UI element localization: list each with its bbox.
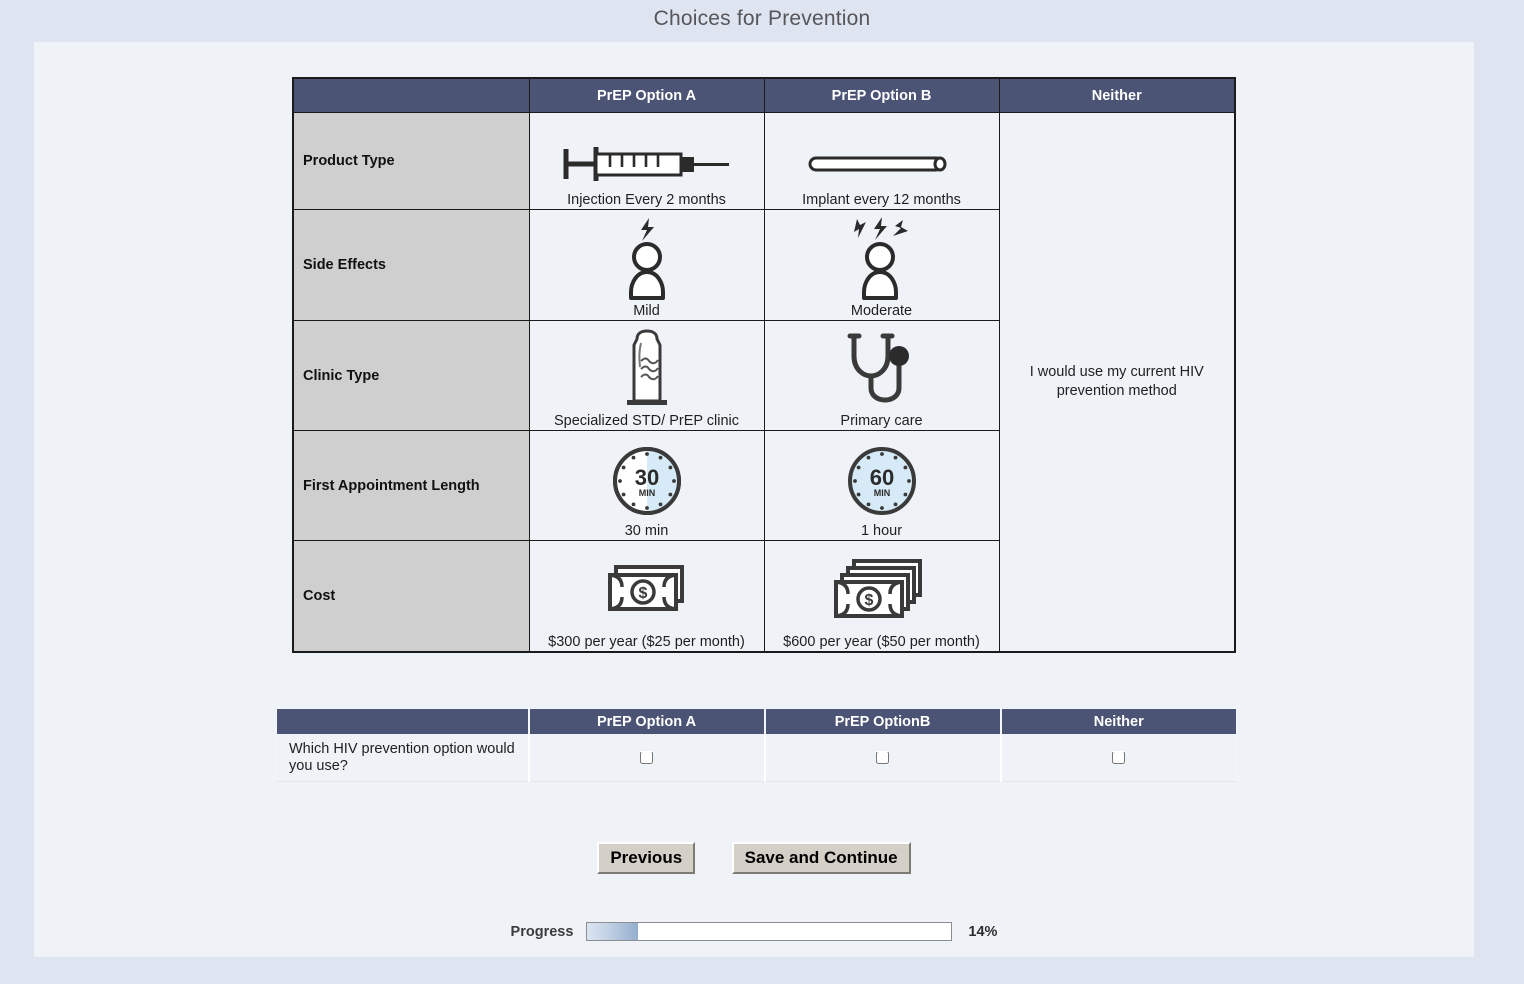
svg-text:$: $	[864, 592, 873, 609]
syringe-icon	[530, 136, 764, 192]
choice-cell-option-b[interactable]	[765, 734, 1001, 782]
attr-caption-side-effects-option-a: Mild	[530, 303, 764, 320]
attr-label-cost: Cost	[293, 541, 529, 653]
clock-number-b: 60	[869, 465, 893, 490]
person-three-bolts-icon	[765, 215, 999, 303]
attr-cell-clinic-type-option-a: Specialized STD/ PrEP clinic	[529, 321, 764, 431]
choice-question-cell: Which HIV prevention option would you us…	[277, 734, 529, 782]
choice-cell-neither[interactable]	[1001, 734, 1237, 782]
progress-percent-text: 14%	[968, 924, 997, 940]
attr-caption-appointment-option-a: 30 min	[530, 523, 764, 540]
attr-cell-product-type-option-a: Injection Every 2 months	[529, 113, 764, 210]
attr-caption-product-type-option-b: Implant every 12 months	[765, 192, 999, 209]
attr-cell-appointment-option-a: 30 MIN 30 min	[529, 431, 764, 541]
implant-rod-icon	[765, 136, 999, 192]
choice-header-blank	[277, 709, 529, 735]
progress-row: Progress 14%	[34, 922, 1474, 941]
attr-header-blank	[293, 78, 529, 113]
choice-question-row: Which HIV prevention option would you us…	[277, 734, 1237, 782]
svg-text:$: $	[638, 585, 647, 602]
save-and-continue-button[interactable]: Save and Continue	[732, 842, 911, 874]
attribute-table-header-row: PrEP Option A PrEP Option B Neither	[293, 78, 1235, 113]
attr-label-side-effects: Side Effects	[293, 210, 529, 321]
choice-question-text: Which HIV prevention option would you us…	[278, 741, 527, 775]
attr-caption-product-type-option-a: Injection Every 2 months	[530, 192, 764, 209]
attribute-comparison-table: PrEP Option A PrEP Option B Neither Prod…	[292, 77, 1236, 653]
progress-bar-fill	[587, 923, 638, 940]
attr-header-option-a: PrEP Option A	[529, 78, 764, 113]
attr-cell-cost-option-b: $ $600 per year ($50 per month)	[764, 541, 999, 653]
attr-caption-appointment-option-b: 1 hour	[765, 523, 999, 540]
attr-caption-clinic-type-option-a: Specialized STD/ PrEP clinic	[530, 413, 764, 430]
choice-table-header-row: PrEP Option A PrEP OptionB Neither	[277, 709, 1237, 735]
attr-cell-appointment-option-b: 60 MIN 1 hour	[764, 431, 999, 541]
clock-unit-b: MIN	[873, 488, 890, 498]
attr-cell-side-effects-option-b: Moderate	[764, 210, 999, 321]
attr-label-clinic-type: Clinic Type	[293, 321, 529, 431]
clock-30-min-icon: 30 MIN	[530, 439, 764, 523]
clock-unit-a: MIN	[638, 488, 655, 498]
single-banknote-icon: $	[530, 546, 764, 634]
attr-caption-cost-option-a: $300 per year ($25 per month)	[530, 634, 764, 651]
attr-cell-clinic-type-option-b: Primary care	[764, 321, 999, 431]
survey-panel: PrEP Option A PrEP Option B Neither Prod…	[34, 42, 1474, 957]
table-row: Product Type	[293, 113, 1235, 210]
clock-number-a: 30	[634, 465, 658, 490]
attr-label-product-type: Product Type	[293, 113, 529, 210]
attr-header-neither: Neither	[999, 78, 1235, 113]
stacked-banknotes-icon: $	[765, 546, 999, 634]
choice-header-option-a: PrEP Option A	[529, 709, 765, 735]
choice-answer-table: PrEP Option A PrEP OptionB Neither Which…	[276, 708, 1237, 782]
previous-button[interactable]: Previous	[597, 842, 695, 874]
page-title: Choices for Prevention	[0, 0, 1524, 38]
checkbox-option-a[interactable]	[640, 751, 653, 764]
attr-cell-product-type-option-b: Implant every 12 months	[764, 113, 999, 210]
stethoscope-icon	[765, 327, 999, 413]
checkbox-option-b[interactable]	[876, 751, 889, 764]
choice-header-neither: Neither	[1001, 709, 1237, 735]
attr-caption-cost-option-b: $600 per year ($50 per month)	[765, 634, 999, 651]
person-one-bolt-icon	[530, 215, 764, 303]
attr-cell-cost-option-a: $ $300 per year ($25 per month)	[529, 541, 764, 653]
choice-header-option-b: PrEP OptionB	[765, 709, 1001, 735]
attr-cell-neither: I would use my current HIV prevention me…	[999, 113, 1235, 653]
attr-label-first-appointment-length: First Appointment Length	[293, 431, 529, 541]
attr-caption-clinic-type-option-b: Primary care	[765, 413, 999, 430]
attr-caption-side-effects-option-b: Moderate	[765, 303, 999, 320]
attr-header-option-b: PrEP Option B	[764, 78, 999, 113]
clock-60-min-icon: 60 MIN	[765, 439, 999, 523]
button-row: Previous Save and Continue	[34, 842, 1474, 874]
attr-cell-side-effects-option-a: Mild	[529, 210, 764, 321]
progress-bar	[586, 922, 952, 941]
choice-cell-option-a[interactable]	[529, 734, 765, 782]
progress-label: Progress	[511, 924, 574, 940]
checkbox-neither[interactable]	[1112, 751, 1125, 764]
condom-package-icon	[530, 327, 764, 413]
